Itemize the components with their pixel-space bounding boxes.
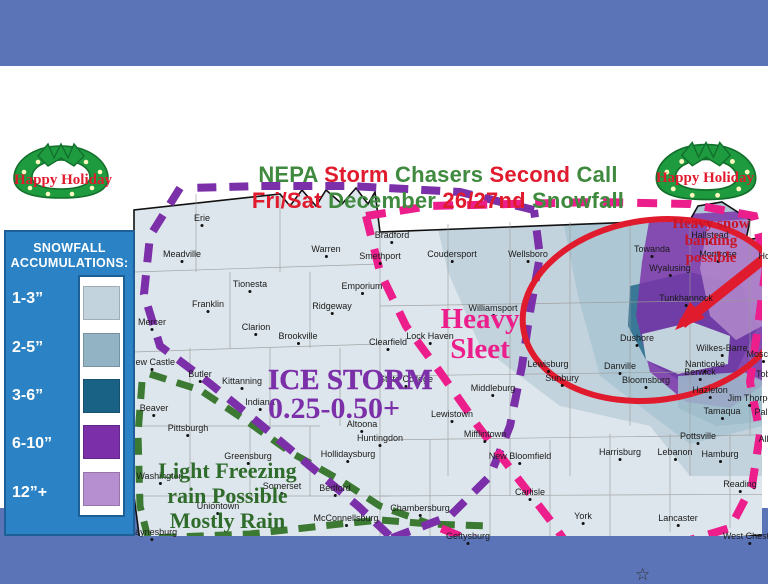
city-dot-icon <box>684 304 687 307</box>
city-name: Wilkes-Barre <box>696 343 748 353</box>
legend-label-2: 3-6” <box>12 387 78 405</box>
city-name: Tionesta <box>233 279 267 289</box>
city-label: Tunkhannock <box>659 293 713 303</box>
city-name: Clearfield <box>369 337 407 347</box>
city-dot-icon <box>451 260 454 263</box>
city-label: Middleburg <box>471 383 516 393</box>
city-dot-icon <box>150 538 153 541</box>
city-name: Gettysburg <box>446 531 490 541</box>
city-label: Bedford <box>319 483 351 493</box>
city-label: Hollidaysburg <box>321 449 376 459</box>
city-label: Washington <box>136 471 183 481</box>
legend-label-1: 2-5” <box>12 339 78 357</box>
city-dot-icon <box>651 255 654 258</box>
city-dot-icon <box>206 310 209 313</box>
city-label: Coudersport <box>427 249 477 259</box>
city-dot-icon <box>150 368 153 371</box>
city-label: Bradford <box>375 230 410 240</box>
city-label: Franklin <box>192 299 224 309</box>
city-dot-icon <box>296 342 299 345</box>
city-dot-icon <box>334 494 337 497</box>
city-label: Berwick <box>684 367 716 377</box>
city-name: Hollidaysburg <box>321 449 376 459</box>
city-label: Lock Haven <box>406 331 454 341</box>
city-label: Mifflintown <box>464 429 506 439</box>
city-dot-icon <box>345 524 348 527</box>
city-dot-icon <box>153 414 156 417</box>
city-name: Sunbury <box>545 373 579 383</box>
city-label: Wilkes-Barre <box>696 343 748 353</box>
city-dot-icon <box>249 290 252 293</box>
city-name: Pittsburgh <box>168 423 209 433</box>
heavy-snow-banding-note: Heavy snow banding possible <box>655 216 767 267</box>
city-dot-icon <box>391 241 394 244</box>
city-label: Lancaster <box>658 513 698 523</box>
city-name: Clarion <box>242 322 271 332</box>
city-name: Kittanning <box>222 376 262 386</box>
city-dot-icon <box>483 440 486 443</box>
city-name: Indiana <box>245 397 275 407</box>
city-dot-icon <box>669 274 672 277</box>
city-label: Jim Thorpe <box>728 393 768 403</box>
capital-star-icon: ☆ <box>635 566 650 583</box>
city-label: Carlisle <box>515 487 545 497</box>
city-dot-icon <box>698 378 701 381</box>
city-label: Gettysburg <box>446 531 490 541</box>
city-name: York <box>574 511 592 521</box>
city-dot-icon <box>404 385 407 388</box>
city-name: Bedford <box>319 483 351 493</box>
city-name: Middleburg <box>471 383 516 393</box>
city-dot-icon <box>200 224 203 227</box>
city-name: Carlisle <box>515 487 545 497</box>
city-label: Hazleton <box>692 385 728 395</box>
city-dot-icon <box>324 255 327 258</box>
city-dot-icon <box>198 380 201 383</box>
weather-forecast-graphic: ErieWarrenBradfordSmethportCoudersportWe… <box>0 0 768 576</box>
legend-label-4: 12”+ <box>12 484 78 502</box>
banding-line3: possible <box>686 250 737 266</box>
city-label: Lewisburg <box>527 359 568 369</box>
city-dot-icon <box>331 312 334 315</box>
city-name: Reading <box>723 479 757 489</box>
city-name: New Castle <box>129 357 175 367</box>
legend-swatch-4 <box>83 472 120 506</box>
city-label: Erie <box>194 213 210 223</box>
legend-label-3: 6-10” <box>12 435 78 453</box>
banding-line1: Heavy snow <box>672 216 749 232</box>
city-name: Brookville <box>278 331 317 341</box>
city-name: Williamsport <box>468 303 517 313</box>
city-dot-icon <box>748 404 751 407</box>
city-label: York <box>574 511 592 521</box>
city-dot-icon <box>247 462 250 465</box>
legend-swatch-2 <box>83 379 120 413</box>
city-label: Sunbury <box>545 373 579 383</box>
city-name: Lancaster <box>658 513 698 523</box>
city-label: Clearfield <box>369 337 407 347</box>
city-label: Mercer <box>138 317 166 327</box>
city-name: Coudersport <box>427 249 477 259</box>
city-name: Lock Haven <box>406 331 454 341</box>
city-name: Greensburg <box>224 451 272 461</box>
city-name: Bloomsburg <box>622 375 670 385</box>
city-name: McConnellsburg <box>313 513 378 523</box>
city-dot-icon <box>519 462 522 465</box>
city-name: Erie <box>194 213 210 223</box>
city-dot-icon <box>721 417 724 420</box>
city-label: West Chester <box>723 531 768 541</box>
legend-swatch-3 <box>83 425 120 459</box>
city-dot-icon <box>347 460 350 463</box>
city-dot-icon <box>217 512 220 515</box>
city-label: New Bloomfield <box>489 451 552 461</box>
city-dot-icon <box>254 333 257 336</box>
city-label: Huntingdon <box>357 433 403 443</box>
legend-labels: 1-3”2-5”3-6”6-10”12”+ <box>12 275 78 517</box>
city-name: Huntingdon <box>357 433 403 443</box>
city-label: Lewistown <box>431 409 473 419</box>
city-label: Hamburg <box>701 449 738 459</box>
city-label: Somerset <box>263 481 302 491</box>
city-name: Tunkhannock <box>659 293 713 303</box>
city-name: West Chester <box>723 531 768 541</box>
city-dot-icon <box>739 490 742 493</box>
city-label: Dushore <box>620 333 654 343</box>
city-dot-icon <box>491 314 494 317</box>
city-name: Altoona <box>347 419 378 429</box>
city-dot-icon <box>677 524 680 527</box>
city-name: Allentown <box>758 434 768 444</box>
city-dot-icon <box>636 344 639 347</box>
city-dot-icon <box>673 458 676 461</box>
city-name: Franklin <box>192 299 224 309</box>
city-dot-icon <box>582 522 585 525</box>
city-name: Mifflintown <box>464 429 506 439</box>
city-name: Tamaqua <box>703 406 740 416</box>
city-name: Jim Thorpe <box>728 393 768 403</box>
city-dot-icon <box>709 396 712 399</box>
city-label: Pittsburgh <box>168 423 209 433</box>
city-name: Danville <box>604 361 636 371</box>
city-dot-icon <box>241 387 244 390</box>
city-label: Kittanning <box>222 376 262 386</box>
city-dot-icon <box>429 342 432 345</box>
legend-title: SNOWFALL ACCUMULATIONS: <box>6 232 133 275</box>
happy-holiday-right: Happy Holiday <box>645 170 765 187</box>
city-dot-icon <box>378 444 381 447</box>
map-canvas: ErieWarrenBradfordSmethportCoudersportWe… <box>0 66 768 508</box>
city-label: Moscow <box>746 349 768 359</box>
legend-title-line1: SNOWFALL <box>33 241 106 255</box>
city-name: Dushore <box>620 333 654 343</box>
city-name: Pottsville <box>680 431 716 441</box>
city-name: Lewistown <box>431 409 473 419</box>
city-dot-icon <box>720 354 723 357</box>
city-label: McConnellsburg <box>313 513 378 523</box>
city-label: Emporium <box>341 281 382 291</box>
city-dot-icon <box>419 514 422 517</box>
legend-title-line2: ACCUMULATIONS: <box>11 256 129 270</box>
city-dot-icon <box>387 348 390 351</box>
city-name: Wellsboro <box>508 249 548 259</box>
city-name: Hamburg <box>701 449 738 459</box>
city-name: Uniontown <box>197 501 240 511</box>
city-name: Smethport <box>359 251 401 261</box>
city-label: Wellsboro <box>508 249 548 259</box>
city-name: Butler <box>188 369 212 379</box>
city-name: Bradford <box>375 230 410 240</box>
city-label: Danville <box>604 361 636 371</box>
city-dot-icon <box>645 386 648 389</box>
city-label: Butler <box>188 369 212 379</box>
city-label: Uniontown <box>197 501 240 511</box>
city-label: Harrisburg <box>599 447 641 457</box>
snowfall-legend: SNOWFALL ACCUMULATIONS: 1-3”2-5”3-6”6-10… <box>4 230 135 536</box>
banding-line2: banding <box>685 233 738 249</box>
city-label: Smethport <box>359 251 401 261</box>
city-name: Hazleton <box>692 385 728 395</box>
city-name: Somerset <box>263 481 302 491</box>
city-label: Williamsport <box>468 303 517 313</box>
city-name: Palmerton <box>754 407 768 417</box>
city-dot-icon <box>748 542 751 545</box>
city-dot-icon <box>492 394 495 397</box>
city-label: Reading <box>723 479 757 489</box>
city-name: New Bloomfield <box>489 451 552 461</box>
city-dot-icon <box>467 542 470 545</box>
city-dot-icon <box>187 434 190 437</box>
city-dot-icon <box>379 262 382 265</box>
city-label: Warren <box>311 244 340 254</box>
city-name: Meadville <box>163 249 201 259</box>
city-label: Chambersburg <box>390 503 450 513</box>
city-name: Lewisburg <box>527 359 568 369</box>
city-label: Tobyhanna <box>756 369 768 379</box>
city-label: Brookville <box>278 331 317 341</box>
city-dot-icon <box>528 498 531 501</box>
city-name: Warren <box>311 244 340 254</box>
city-label: Pottsville <box>680 431 716 441</box>
city-dot-icon <box>718 460 721 463</box>
city-label: Bloomsburg <box>622 375 670 385</box>
city-label: New Castle <box>129 357 175 367</box>
city-name: Chambersburg <box>390 503 450 513</box>
city-label: Lebanon <box>657 447 692 457</box>
city-name: Ridgeway <box>312 301 352 311</box>
city-name: Emporium <box>341 281 382 291</box>
city-dot-icon <box>158 482 161 485</box>
legend-swatch-1 <box>83 333 120 367</box>
city-name: Washington <box>136 471 183 481</box>
legend-body: 1-3”2-5”3-6”6-10”12”+ <box>6 275 133 517</box>
city-dot-icon <box>761 360 764 363</box>
city-label: State College <box>379 374 433 384</box>
happy-holiday-left: Happy Holiday <box>3 172 123 189</box>
city-label: Ridgeway <box>312 301 352 311</box>
city-label: Tionesta <box>233 279 267 289</box>
city-dot-icon <box>451 420 454 423</box>
city-dot-icon <box>526 260 529 263</box>
city-dot-icon <box>561 384 564 387</box>
city-label: Meadville <box>163 249 201 259</box>
city-name: Mercer <box>138 317 166 327</box>
city-name: State College <box>379 374 433 384</box>
city-label: Greensburg <box>224 451 272 461</box>
legend-label-0: 1-3” <box>12 290 78 308</box>
city-label: Altoona <box>347 419 378 429</box>
city-label: Palmerton <box>754 407 768 417</box>
city-name: Beaver <box>140 403 169 413</box>
city-dot-icon <box>280 492 283 495</box>
city-dot-icon <box>181 260 184 263</box>
city-dot-icon <box>150 328 153 331</box>
city-label: Indiana <box>245 397 275 407</box>
city-name: Berwick <box>684 367 716 377</box>
city-dot-icon <box>618 458 621 461</box>
city-label: Allentown <box>758 434 768 444</box>
wreath-icon-left <box>8 142 114 200</box>
legend-swatches <box>78 275 125 517</box>
city-label: Clarion <box>242 322 271 332</box>
city-dot-icon <box>360 292 363 295</box>
city-name: Tobyhanna <box>756 369 768 379</box>
city-name: Lebanon <box>657 447 692 457</box>
legend-swatch-0 <box>83 286 120 320</box>
city-dot-icon <box>259 408 262 411</box>
city-label: Tamaqua <box>703 406 740 416</box>
city-name: Harrisburg <box>599 447 641 457</box>
city-label: Beaver <box>140 403 169 413</box>
city-name: Moscow <box>746 349 768 359</box>
city-dot-icon <box>696 442 699 445</box>
